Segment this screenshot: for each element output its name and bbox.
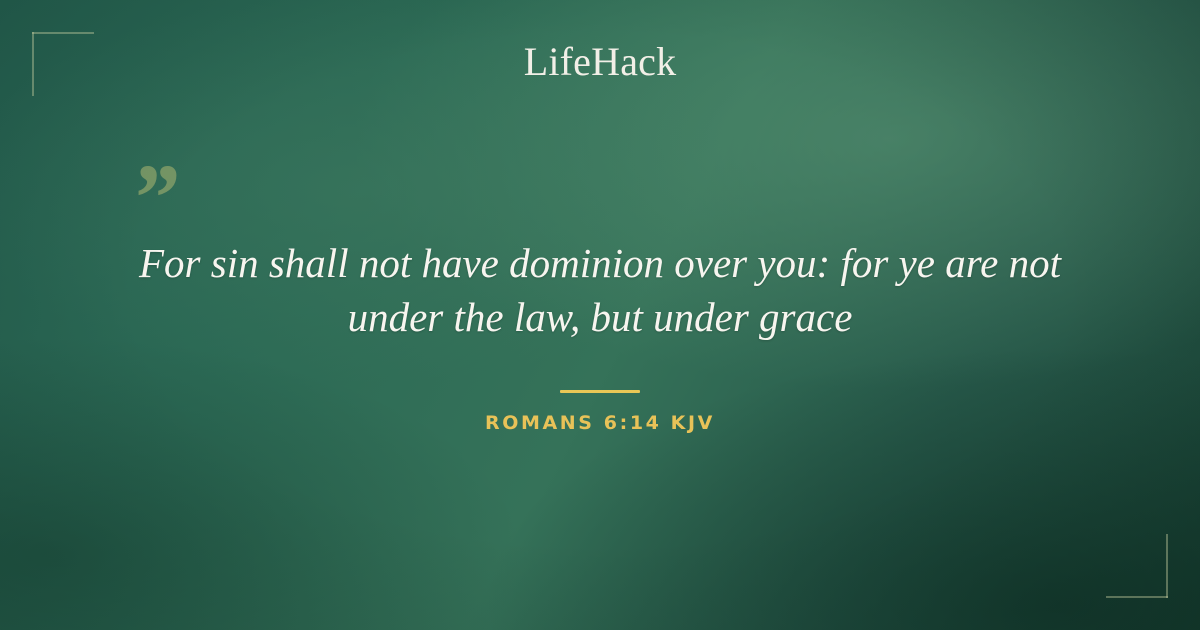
verse-attribution: ROMANS 6:14 KJV (0, 412, 1200, 434)
quote-line-2: under the law, but under grace (100, 290, 1100, 344)
brand-logo: LifeHack (0, 42, 1200, 82)
quote-card: LifeHack ” For sin shall not have domini… (0, 0, 1200, 630)
quotation-mark-icon: ” (130, 150, 176, 246)
divider-container (0, 380, 1200, 398)
quote-line-1: For sin shall not have dominion over you… (100, 236, 1100, 290)
quote-text: For sin shall not have dominion over you… (100, 236, 1100, 344)
gold-divider (560, 390, 640, 393)
